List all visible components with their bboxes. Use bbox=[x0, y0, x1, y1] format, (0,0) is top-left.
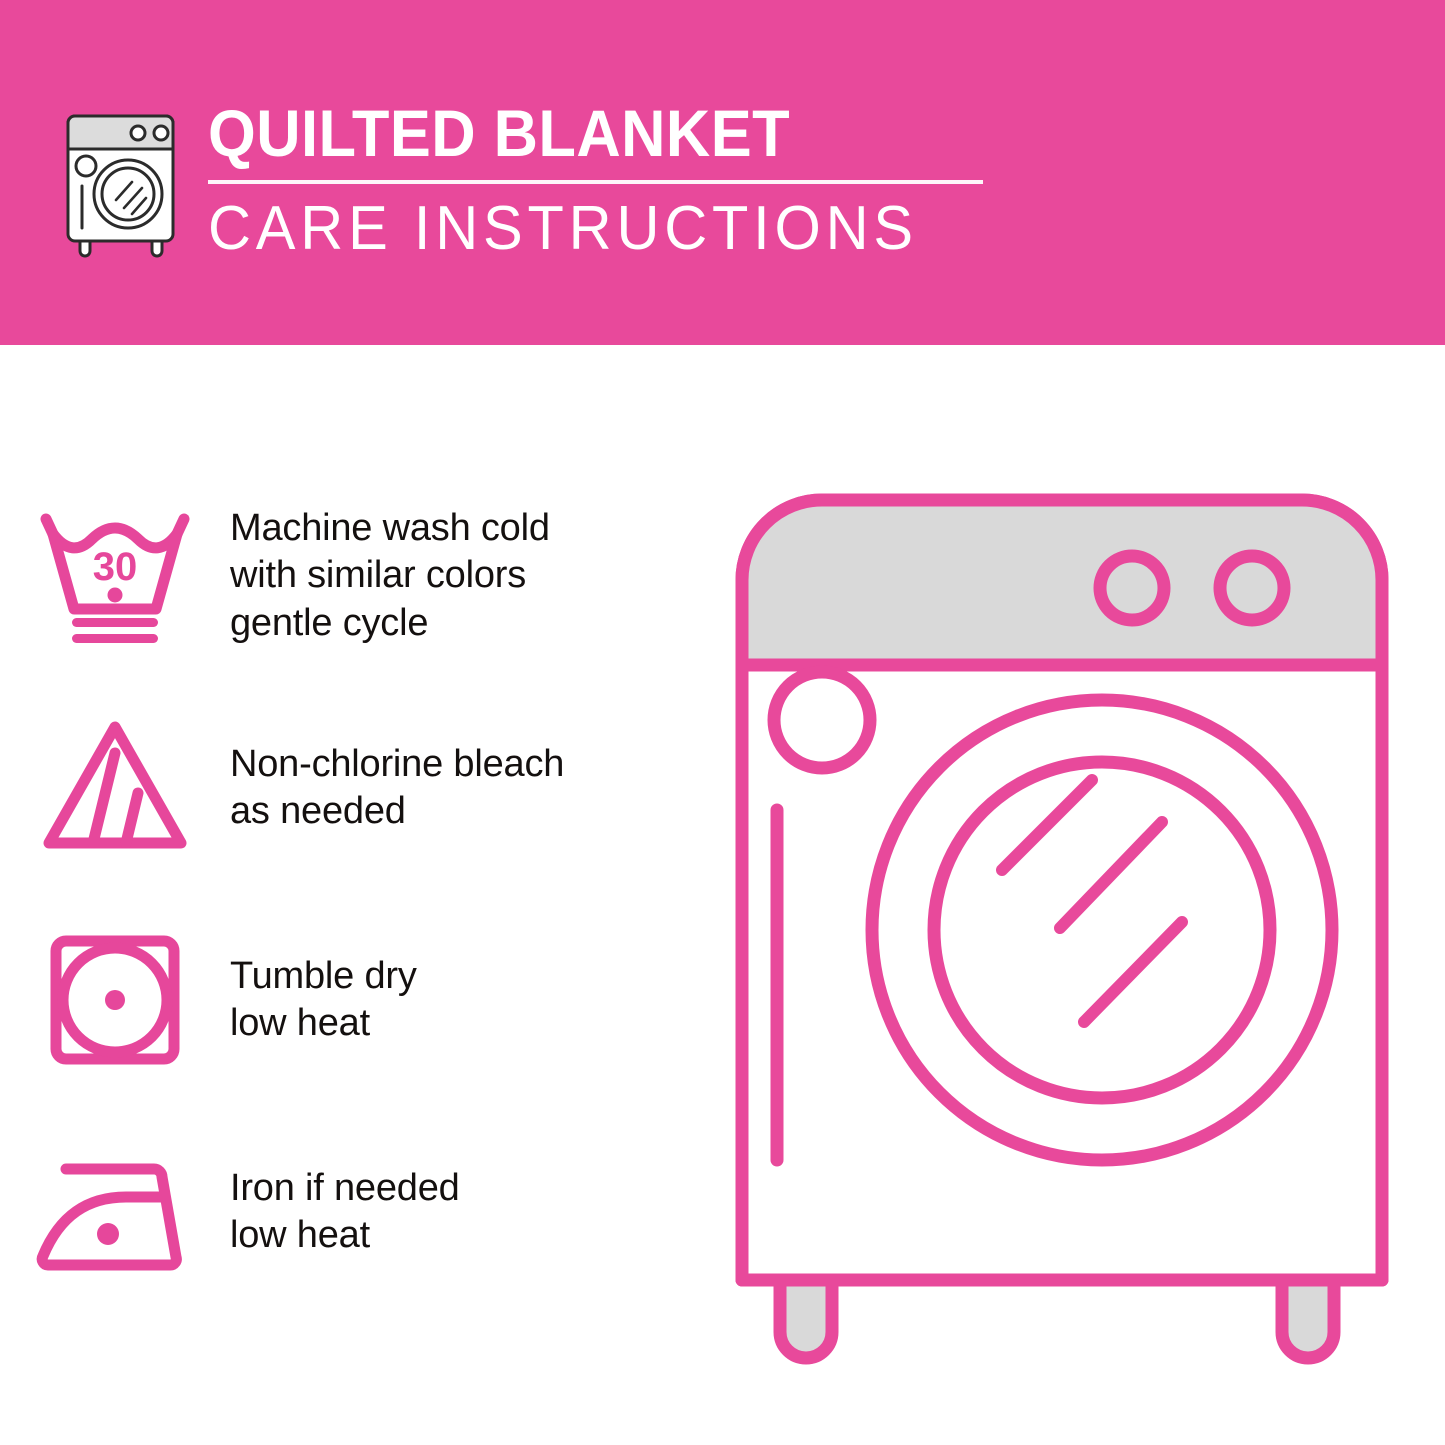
care-text-line: Iron if needed bbox=[230, 1165, 460, 1212]
care-row-tumble-dry: Tumble dry low heat bbox=[0, 894, 700, 1106]
care-text-line: as needed bbox=[230, 788, 564, 835]
care-row-iron: Iron if needed low heat bbox=[0, 1106, 700, 1318]
care-text-line: low heat bbox=[230, 1212, 460, 1259]
header-content: QUILTED BLANKET CARE INSTRUCTIONS bbox=[60, 100, 983, 260]
tumble-dry-low-icon bbox=[0, 925, 230, 1075]
header-banner: QUILTED BLANKET CARE INSTRUCTIONS bbox=[0, 0, 1445, 345]
wash-temperature-label: 30 bbox=[93, 545, 138, 589]
care-row-bleach: Non-chlorine bleach as needed bbox=[0, 682, 700, 894]
washing-machine-illustration bbox=[712, 470, 1412, 1370]
knob-left bbox=[1100, 556, 1164, 620]
care-text-tumble-dry: Tumble dry low heat bbox=[230, 953, 417, 1047]
iron-low-heat-icon bbox=[0, 1137, 230, 1287]
title-divider bbox=[208, 180, 983, 184]
page-subtitle: CARE INSTRUCTIONS bbox=[208, 198, 952, 260]
care-instructions-list: 30 Machine wash cold with similar colors… bbox=[0, 470, 700, 1318]
care-text-line: Tumble dry bbox=[230, 953, 417, 1000]
page-title: QUILTED BLANKET bbox=[208, 100, 929, 166]
care-text-bleach: Non-chlorine bleach as needed bbox=[230, 741, 564, 835]
washing-machine-icon bbox=[60, 104, 190, 259]
knob-right bbox=[1220, 556, 1284, 620]
wash-basin-30-gentle-icon: 30 bbox=[0, 501, 230, 651]
care-text-line: low heat bbox=[230, 1000, 417, 1047]
care-text-machine-wash: Machine wash cold with similar colors ge… bbox=[230, 505, 550, 646]
care-text-line: gentle cycle bbox=[230, 600, 550, 647]
non-chlorine-bleach-triangle-icon bbox=[0, 713, 230, 863]
care-text-line: with similar colors bbox=[230, 552, 550, 599]
care-row-machine-wash: 30 Machine wash cold with similar colors… bbox=[0, 470, 700, 682]
care-text-line: Non-chlorine bleach bbox=[230, 741, 564, 788]
care-text-line: Machine wash cold bbox=[230, 505, 550, 552]
header-title-group: QUILTED BLANKET CARE INSTRUCTIONS bbox=[208, 100, 983, 260]
care-text-iron: Iron if needed low heat bbox=[230, 1165, 460, 1259]
